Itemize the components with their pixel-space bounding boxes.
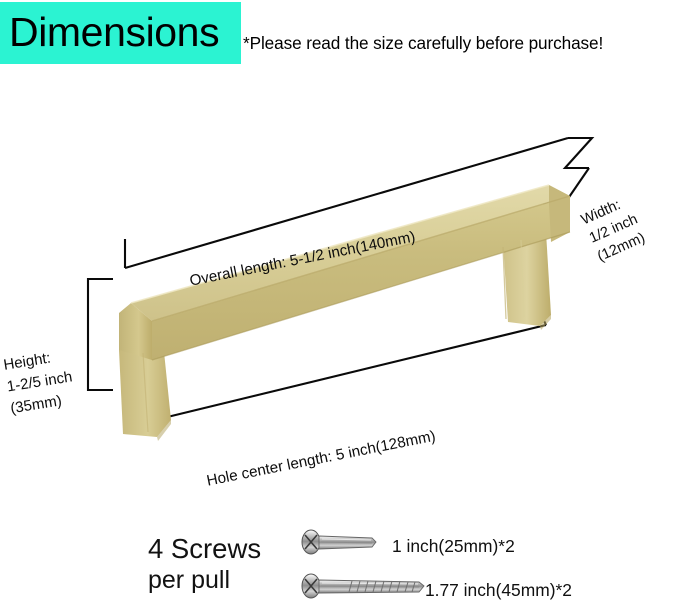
purchase-note: *Please read the size carefully before p… — [243, 33, 603, 54]
screws-section: 4 Screws per pull 1 inch(25mm)*2 1.77 in… — [0, 502, 679, 608]
product-dimension-diagram: Overall length: 5-1/2 inch(140mm) Width:… — [0, 72, 679, 502]
height-label: Height: 1-2/5 inch (35mm) — [2, 342, 97, 421]
page-title: Dimensions — [9, 5, 241, 60]
height-label-line-1: Height: — [2, 350, 52, 374]
short-screw-label: 1 inch(25mm)*2 — [392, 536, 515, 557]
height-label-line-2: 1-2/5 inch — [6, 368, 74, 395]
handle-body — [119, 185, 570, 441]
short-screw-icon — [302, 530, 376, 554]
screw-illustrations — [0, 502, 679, 608]
long-screw-label: 1.77 inch(45mm)*2 — [425, 580, 572, 601]
long-screw-icon — [302, 574, 424, 598]
overall-length-right-jog — [565, 138, 592, 168]
handle-illustration — [0, 72, 679, 502]
header-band: Dimensions *Please read the size careful… — [0, 0, 679, 72]
